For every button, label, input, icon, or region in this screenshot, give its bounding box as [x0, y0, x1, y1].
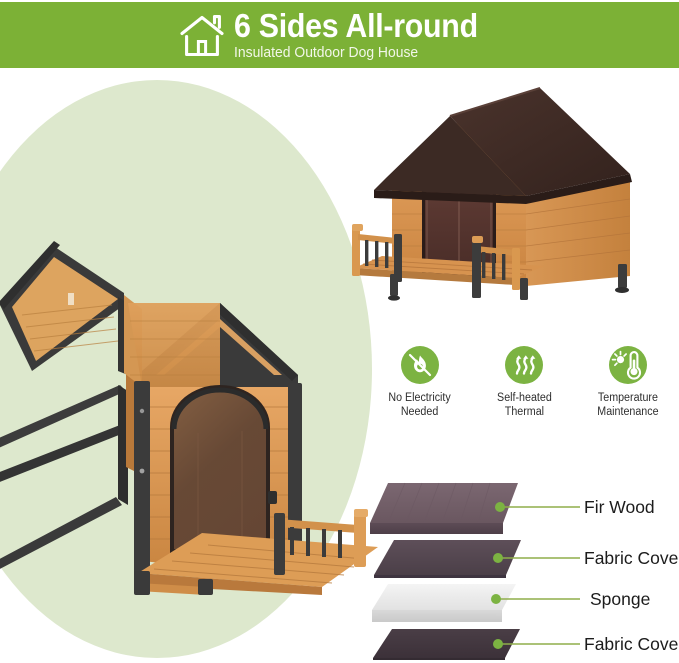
thermometer-icon — [609, 346, 647, 384]
feature-label: No Electricity Needed — [389, 391, 451, 419]
feature-no-electricity: No Electricity Needed — [374, 346, 466, 419]
layer-label-fir-wood: Fir Wood — [584, 497, 655, 517]
layer-label-sponge: Sponge — [590, 589, 650, 609]
feature-list: No Electricity Needed — [374, 346, 674, 434]
feature-temperature-maintenance: Temperature Maintenance — [582, 346, 674, 419]
feature-self-heated: Self-heated Thermal — [478, 346, 570, 419]
dog-house-closed-photo — [330, 78, 678, 316]
dog-house-open-roof-photo — [0, 175, 382, 595]
page-subtitle: Insulated Outdoor Dog House — [234, 45, 418, 62]
layer-leaders-and-labels: Fir Wood Fabric Cover Sponge Fabric Cove… — [358, 470, 679, 663]
infographic-canvas: 6 Sides All-round Insulated Outdoor Dog … — [0, 0, 679, 663]
feature-label: Self-heated Thermal — [497, 391, 552, 419]
feature-label: Temperature Maintenance — [597, 391, 658, 419]
header-banner: 6 Sides All-round Insulated Outdoor Dog … — [0, 2, 679, 68]
page-title: 6 Sides All-round — [234, 9, 478, 42]
no-flame-icon — [401, 346, 439, 384]
layer-label-fabric-cover-bottom: Fabric Cover — [584, 634, 679, 654]
layer-label-fabric-cover-top: Fabric Cover — [584, 548, 679, 568]
heat-waves-icon — [505, 346, 543, 384]
house-icon — [179, 14, 225, 58]
material-layers-diagram: Fir Wood Fabric Cover Sponge Fabric Cove… — [358, 470, 679, 663]
